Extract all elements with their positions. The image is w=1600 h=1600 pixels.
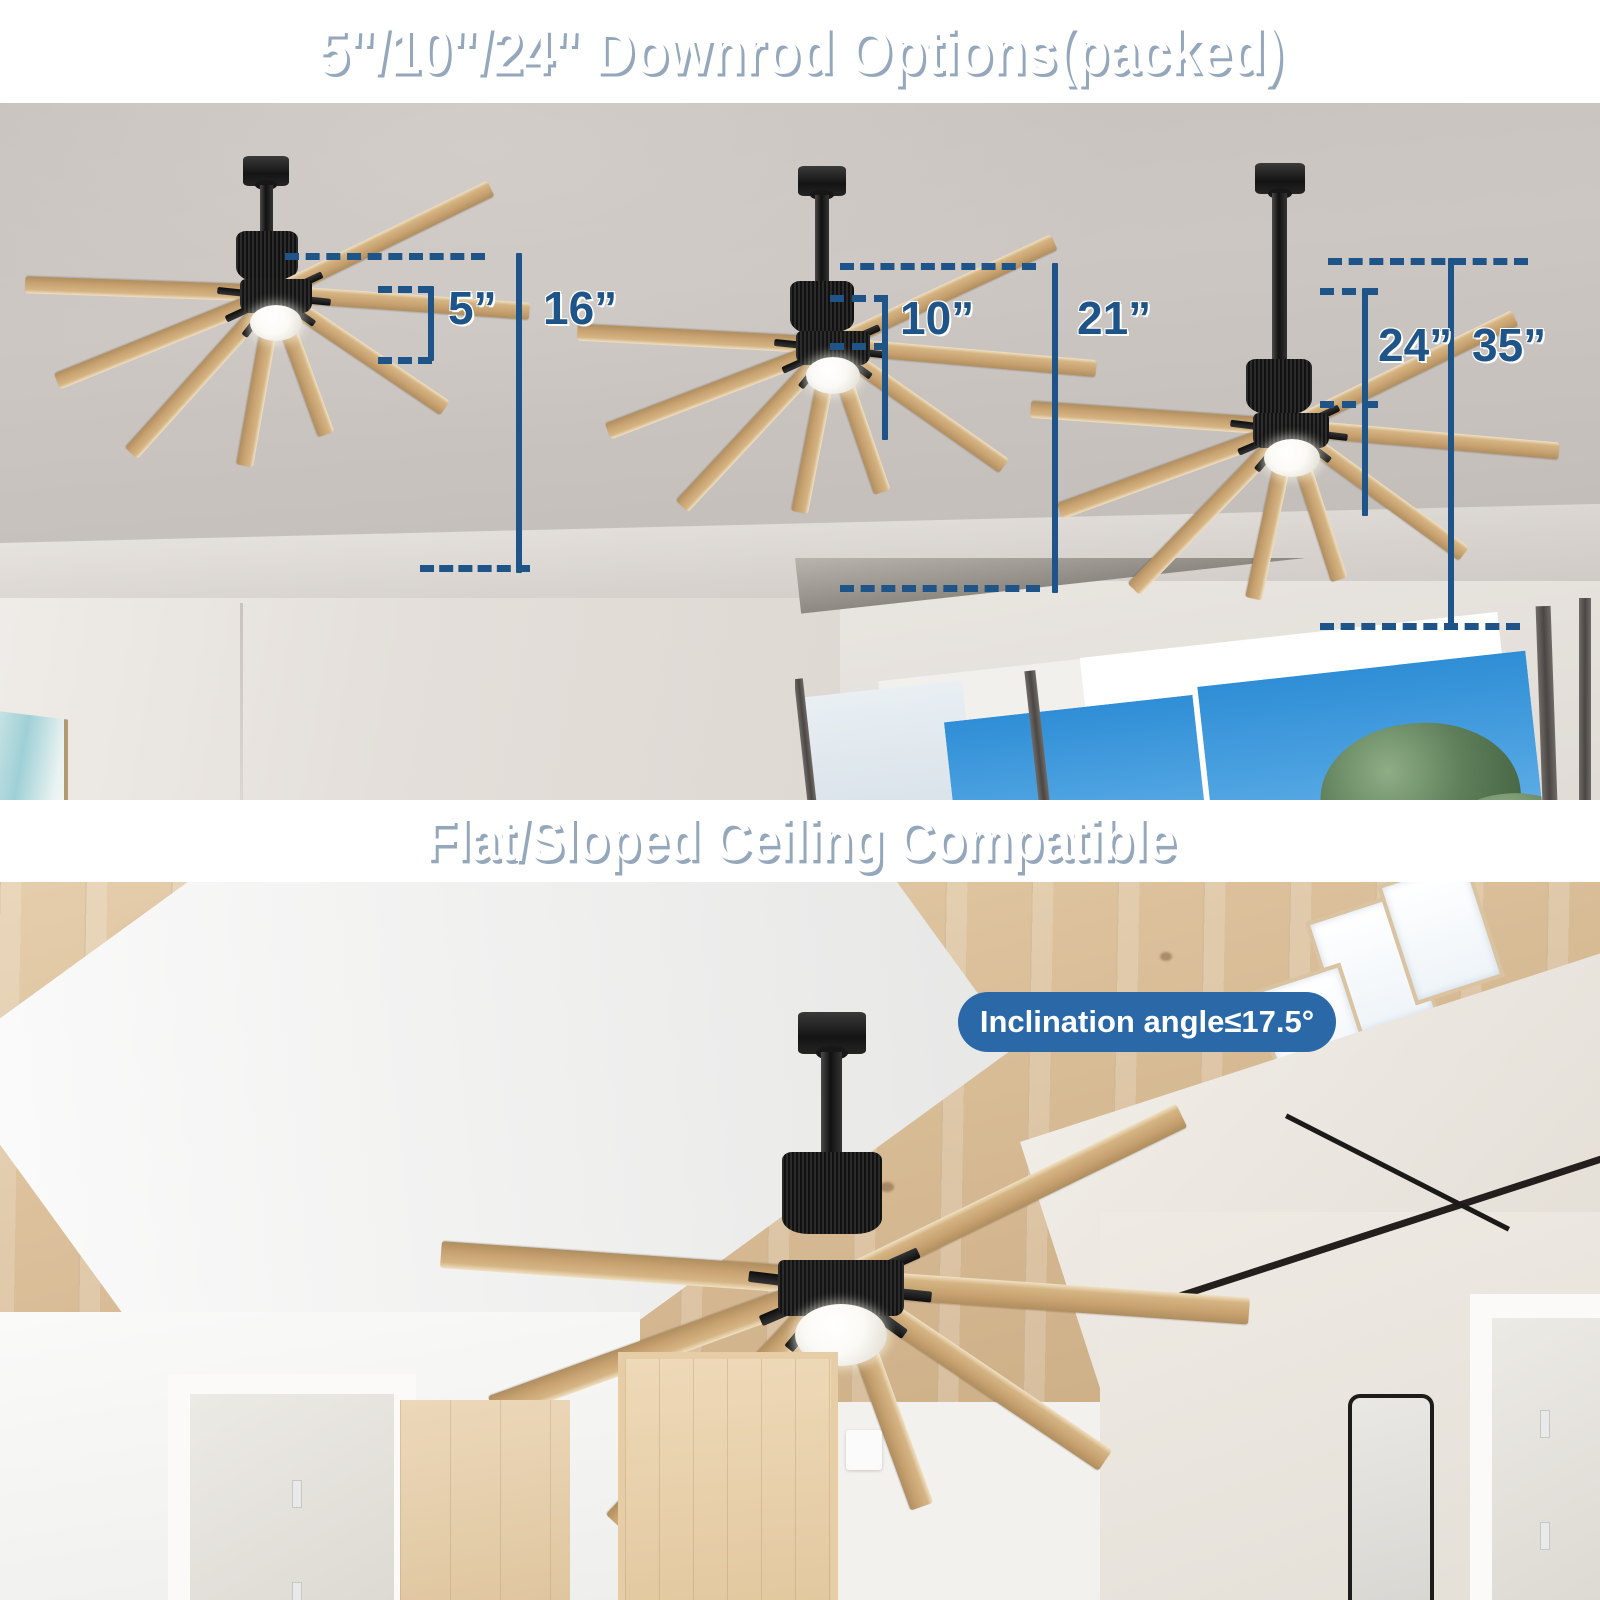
top-banner: 5"/10"/24" Downrod Options(packed) [0, 0, 1600, 103]
led-light [250, 305, 302, 341]
door-hinge [1540, 1410, 1550, 1438]
dim-downrod-line-2 [882, 295, 888, 440]
motor-housing [1246, 359, 1312, 415]
framed-artwork-left [0, 710, 68, 800]
sliding-glass-door [795, 558, 1600, 800]
flat-ceiling-scene: 5” 16” [0, 103, 1600, 800]
product-infographic: 5"/10"/24" Downrod Options(packed) [0, 0, 1600, 1600]
downrod-label-3: 24” [1378, 318, 1452, 372]
total-height-label-3: 35” [1472, 318, 1546, 372]
dim-top-dashed-1 [285, 253, 485, 260]
middle-banner-title: Flat/Sloped Ceiling Compatible [425, 807, 1176, 874]
dim-total-line-2 [1052, 263, 1058, 593]
dim-downrod-bottom-2 [830, 343, 888, 350]
left-wall [0, 598, 860, 800]
downrod [260, 185, 273, 235]
downrod-label-1: 5” [448, 281, 497, 335]
dim-bottom-dashed-1 [420, 565, 530, 572]
downrod-label-2: 10” [900, 291, 974, 345]
sloped-ceiling-scene: Inclination angle≤17.5° [0, 882, 1600, 1600]
middle-banner: Flat/Sloped Ceiling Compatible [0, 800, 1600, 882]
wall-corner [240, 603, 243, 800]
wood-knot [1160, 952, 1172, 961]
total-height-label-1: 16” [543, 281, 617, 335]
dim-downrod-top-3 [1320, 288, 1378, 295]
downrod [821, 1052, 842, 1160]
inclination-angle-badge: Inclination angle≤17.5° [958, 992, 1336, 1052]
dim-downrod-top-1 [378, 286, 432, 293]
dim-bottom-dashed-2 [840, 585, 1040, 592]
wood-cabinet [400, 1400, 570, 1600]
inclination-angle-label: Inclination angle≤17.5° [980, 1004, 1314, 1040]
dim-total-line-1 [516, 253, 522, 573]
door-hinge [292, 1582, 302, 1600]
pine-door [618, 1352, 838, 1600]
dim-bottom-dashed-3 [1320, 623, 1520, 630]
door-hinge [292, 1480, 302, 1508]
led-light [1264, 439, 1320, 477]
dim-top-dashed-2 [840, 263, 1036, 270]
motor-housing [790, 281, 854, 335]
motor-housing [782, 1152, 882, 1234]
dim-downrod-top-2 [830, 295, 888, 302]
wall-intercom [846, 1430, 882, 1470]
dim-total-line-3 [1448, 258, 1454, 630]
right-door-opening [1492, 1318, 1600, 1600]
door-frame-right-outer [1579, 598, 1591, 800]
downrod [815, 195, 829, 285]
dim-top-dashed-3 [1328, 258, 1528, 265]
wall-mirror [1348, 1394, 1434, 1600]
dim-downrod-bottom-3 [1320, 401, 1378, 408]
total-height-label-2: 21” [1077, 291, 1151, 345]
door-mullion-right [1536, 606, 1562, 800]
dim-downrod-line-1 [428, 286, 434, 361]
led-light [806, 357, 860, 394]
dim-downrod-bottom-1 [378, 357, 432, 364]
door-hinge [1540, 1522, 1550, 1550]
dim-downrod-line-3 [1362, 288, 1368, 516]
downrod [1272, 193, 1287, 363]
top-banner-title: 5"/10"/24" Downrod Options(packed) [317, 15, 1282, 88]
